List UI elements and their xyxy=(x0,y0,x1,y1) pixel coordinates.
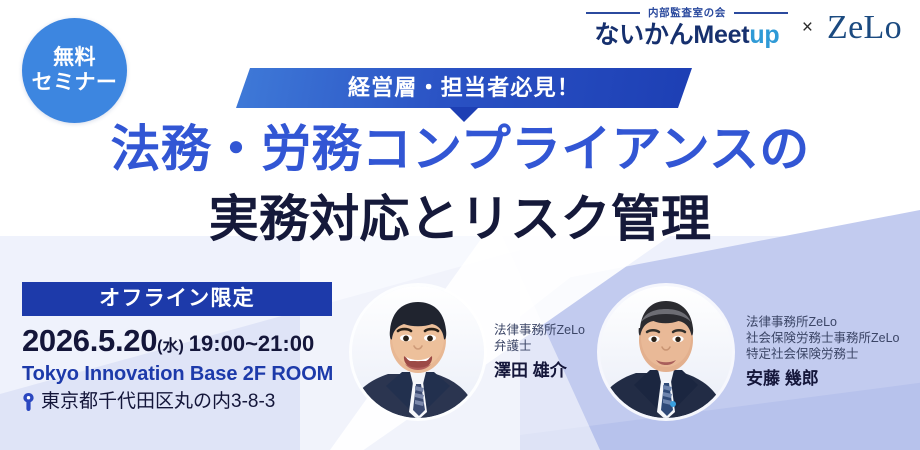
logo-separator-x-icon: × xyxy=(802,17,813,39)
rule-right-icon xyxy=(734,12,788,14)
speaker-1-text: 法律事務所ZeLo 弁護士 澤田 雄介 xyxy=(494,322,585,382)
naikan-jp-text: ないかん xyxy=(594,21,693,49)
offline-only-chip: オフライン限定 xyxy=(22,282,332,316)
event-date-row: 2026.5.20 (水) 19:00~21:00 xyxy=(22,325,342,356)
speaker-2-name: 安藤 幾郎 xyxy=(746,368,900,390)
audience-ribbon: 経営層・担当者必見！ xyxy=(236,68,692,120)
event-date: 2026.5.20 xyxy=(22,325,157,356)
naikan-kicker-label: 内部監査室の会 xyxy=(648,8,726,19)
speaker-1-org-1: 弁護士 xyxy=(494,338,585,354)
naikan-wordmark: ないかんMeetup xyxy=(594,23,779,48)
map-pin-icon xyxy=(22,393,35,411)
header-logo-group: 内部監査室の会 ないかんMeetup × ZeLo xyxy=(586,8,902,48)
speaker-photo-sawada xyxy=(352,286,484,418)
speaker-2-org-0: 法律事務所ZeLo xyxy=(746,314,900,330)
naikan-meetup-logo: 内部監査室の会 ないかんMeetup xyxy=(586,8,788,48)
speaker-photo-ando xyxy=(600,286,732,418)
speaker-1-name: 澤田 雄介 xyxy=(494,360,585,382)
naikan-kicker-row: 内部監査室の会 xyxy=(586,8,788,19)
speaker-card-1: 法律事務所ZeLo 弁護士 澤田 雄介 xyxy=(352,286,585,418)
naikan-meet-text: Meet xyxy=(693,21,749,49)
event-day-of-week: (水) xyxy=(157,339,184,355)
free-badge-line1: 無料 xyxy=(53,46,96,71)
naikan-up-text: up xyxy=(749,21,779,49)
venue-name: Tokyo Innovation Base 2F ROOM xyxy=(22,364,342,384)
title-line-2: 実務対応とリスク管理 xyxy=(0,194,920,244)
event-time: 19:00~21:00 xyxy=(189,333,314,355)
ribbon-label: 経営層・担当者必見！ xyxy=(348,77,580,99)
speaker-card-2: 法律事務所ZeLo 社会保険労務士事務所ZeLo 特定社会保険労務士 安藤 幾郎 xyxy=(600,286,900,418)
speaker-1-org-0: 法律事務所ZeLo xyxy=(494,322,585,338)
ribbon-body: 経営層・担当者必見！ xyxy=(236,68,692,108)
venue-address-row: 東京都千代田区丸の内3-8-3 xyxy=(22,392,342,411)
ribbon-arrow-icon xyxy=(449,107,479,122)
free-seminar-badge: 無料 セミナー xyxy=(22,18,127,123)
speaker-2-org-2: 特定社会保険労務士 xyxy=(746,346,900,362)
rule-left-icon xyxy=(586,12,640,14)
speaker-portrait-icon xyxy=(600,286,732,418)
title-line-1: 法務・労務コンプライアンスの xyxy=(0,124,920,174)
event-info-block: オフライン限定 2026.5.20 (水) 19:00~21:00 Tokyo … xyxy=(22,282,342,411)
venue-address: 東京都千代田区丸の内3-8-3 xyxy=(41,392,275,411)
speaker-2-org-1: 社会保険労務士事務所ZeLo xyxy=(746,330,900,346)
free-badge-line2: セミナー xyxy=(32,71,118,96)
zelo-wordmark: ZeLo xyxy=(827,11,902,45)
speaker-portrait-icon xyxy=(352,286,484,418)
seminar-banner: 内部監査室の会 ないかんMeetup × ZeLo 無料 セミナー 経営層・担当… xyxy=(0,0,920,450)
speaker-2-text: 法律事務所ZeLo 社会保険労務士事務所ZeLo 特定社会保険労務士 安藤 幾郎 xyxy=(746,314,900,390)
